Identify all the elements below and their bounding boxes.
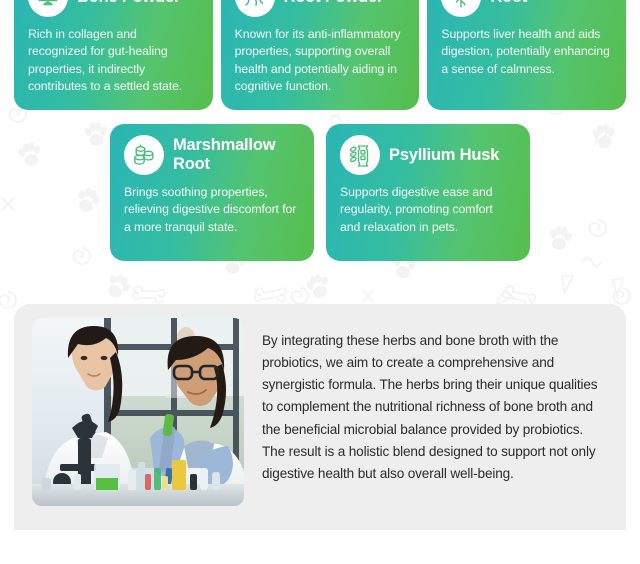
ingredient-card-psyllium-husk[interactable]: Psyllium Husk Supports digestive ease an… <box>326 124 530 261</box>
card-description: Supports digestive ease and regularity, … <box>340 184 516 236</box>
root-powder-icon <box>235 0 275 17</box>
ingredient-card-row-2: Marshmallow Root Brings soothing propert… <box>0 124 640 261</box>
marshmallow-root-icon <box>124 135 164 175</box>
summary-panel: By integrating these herbs and bone brot… <box>14 304 626 530</box>
psyllium-husk-icon <box>340 135 380 175</box>
summary-paragraph: By integrating these herbs and bone brot… <box>262 318 612 530</box>
card-title: Psyllium Husk <box>389 146 499 164</box>
card-header: Root <box>441 0 612 17</box>
card-title: Root <box>490 0 527 6</box>
ingredient-cards-section: Bone Powder Rich in collagen and recogni… <box>0 0 640 261</box>
card-title: Root Powder <box>284 0 384 6</box>
card-title: Bone Powder <box>77 0 180 6</box>
card-title: Marshmallow Root <box>173 136 300 173</box>
root-icon <box>441 0 481 17</box>
lab-scientists-photo <box>32 318 244 506</box>
ingredient-card-bone-powder[interactable]: Bone Powder Rich in collagen and recogni… <box>14 0 213 110</box>
ingredient-card-root[interactable]: Root Supports liver health and aids dige… <box>427 0 626 110</box>
card-description: Brings soothing properties, relieving di… <box>124 184 300 236</box>
ingredient-card-marshmallow-root[interactable]: Marshmallow Root Brings soothing propert… <box>110 124 314 261</box>
card-header: Marshmallow Root <box>124 135 300 175</box>
ingredient-card-root-powder[interactable]: Root Powder Known for its anti-inflammat… <box>221 0 420 110</box>
ingredient-card-row-1: Bone Powder Rich in collagen and recogni… <box>0 0 640 110</box>
card-header: Bone Powder <box>28 0 199 17</box>
card-description: Supports liver health and aids digestion… <box>441 26 612 78</box>
card-description: Rich in collagen and recognized for gut-… <box>28 26 199 96</box>
card-header: Root Powder <box>235 0 406 17</box>
card-header: Psyllium Husk <box>340 135 516 175</box>
bone-powder-icon <box>28 0 68 17</box>
card-description: Known for its anti-inflammatory properti… <box>235 26 406 96</box>
